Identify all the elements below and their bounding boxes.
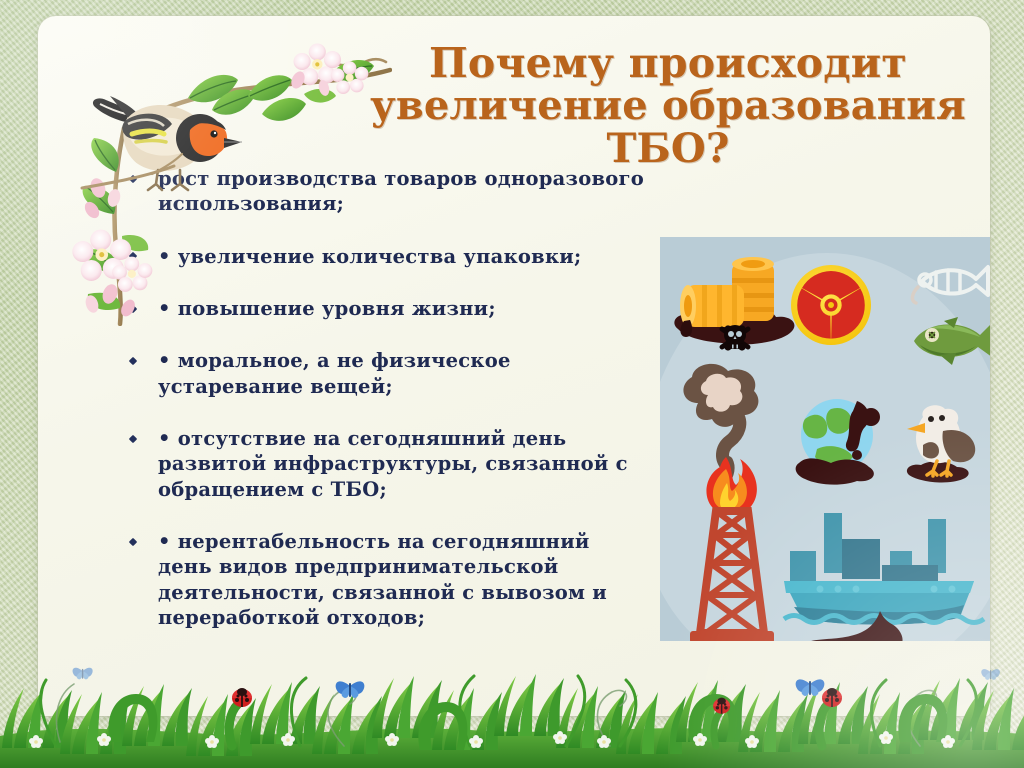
title-line-3: ТБО? [368, 128, 968, 170]
bullet-marker-icon [129, 435, 137, 443]
oiled-seagull-icon [907, 405, 975, 482]
grass-border-icon [0, 650, 1024, 768]
oil-tanker-icon [784, 513, 984, 641]
list-item-label: • моральное, а не физическое устаревание… [158, 348, 648, 399]
polluted-earth-icon [796, 399, 880, 485]
slide-root: Почему происходит увеличение образования… [0, 0, 1024, 768]
oil-derrick-fire-icon [690, 457, 774, 641]
list-item-label: • отсутствие на сегодняшний день развито… [158, 426, 648, 502]
polluted-fish-icon [914, 317, 990, 365]
list-item: • моральное, а не физическое устаревание… [108, 348, 648, 399]
skull-crossbones-icon [722, 325, 748, 351]
blossom [289, 43, 369, 97]
bird-blossom-branch-icon [62, 36, 392, 326]
radioactive-icon [787, 265, 875, 347]
title-line-1: Почему происходит [368, 42, 968, 85]
list-item: • нерентабельность на сегодняшний день в… [108, 529, 648, 630]
bullet-marker-icon [129, 357, 137, 365]
page-title: Почему происходит увеличение образования… [368, 42, 968, 170]
bullet-marker-icon [129, 538, 137, 546]
fish-bones-icon [912, 267, 988, 303]
title-line-2: увеличение образования [368, 85, 968, 127]
slide-card: Почему происходит увеличение образования… [38, 16, 990, 716]
pollution-collage [660, 237, 990, 641]
list-item: • отсутствие на сегодняшний день развито… [108, 426, 648, 502]
list-item-label: • нерентабельность на сегодняшний день в… [158, 529, 648, 630]
